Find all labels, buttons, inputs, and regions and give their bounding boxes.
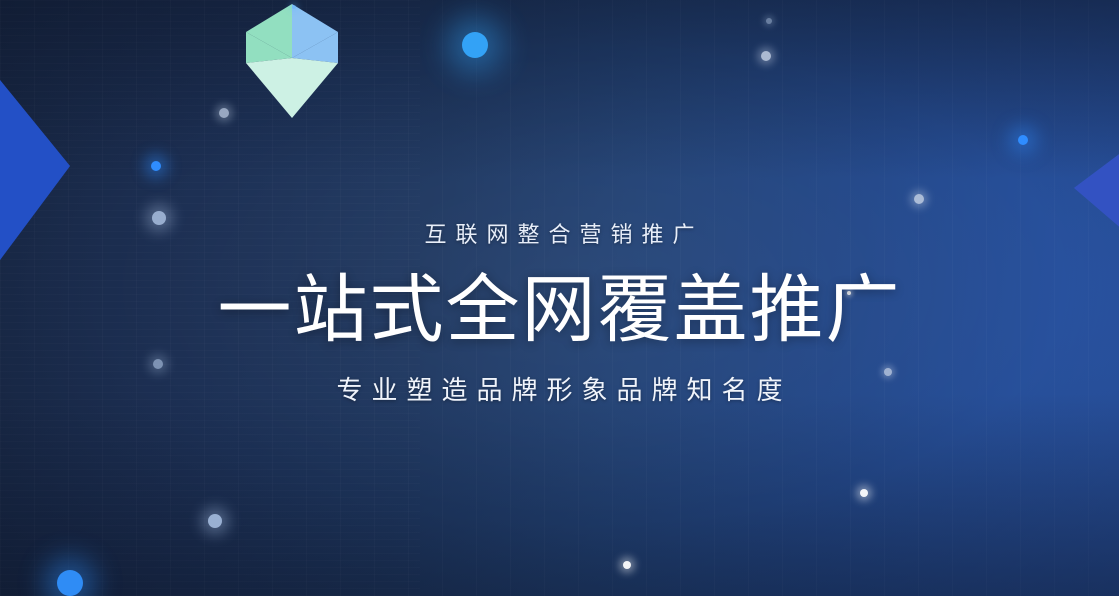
cube-logo-icon [244,2,340,120]
cube-bottom-face [246,58,338,118]
promo-banner: 互联网整合营销推广 一站式全网覆盖推广 专业塑造品牌形象品牌知名度 [0,0,1119,596]
headline-block: 互联网整合营销推广 一站式全网覆盖推广 专业塑造品牌形象品牌知名度 [0,218,1119,408]
banner-eyebrow: 互联网整合营销推广 [0,218,1119,252]
banner-subline: 专业塑造品牌形象品牌知名度 [0,372,1119,408]
banner-headline: 一站式全网覆盖推广 [0,262,1119,358]
